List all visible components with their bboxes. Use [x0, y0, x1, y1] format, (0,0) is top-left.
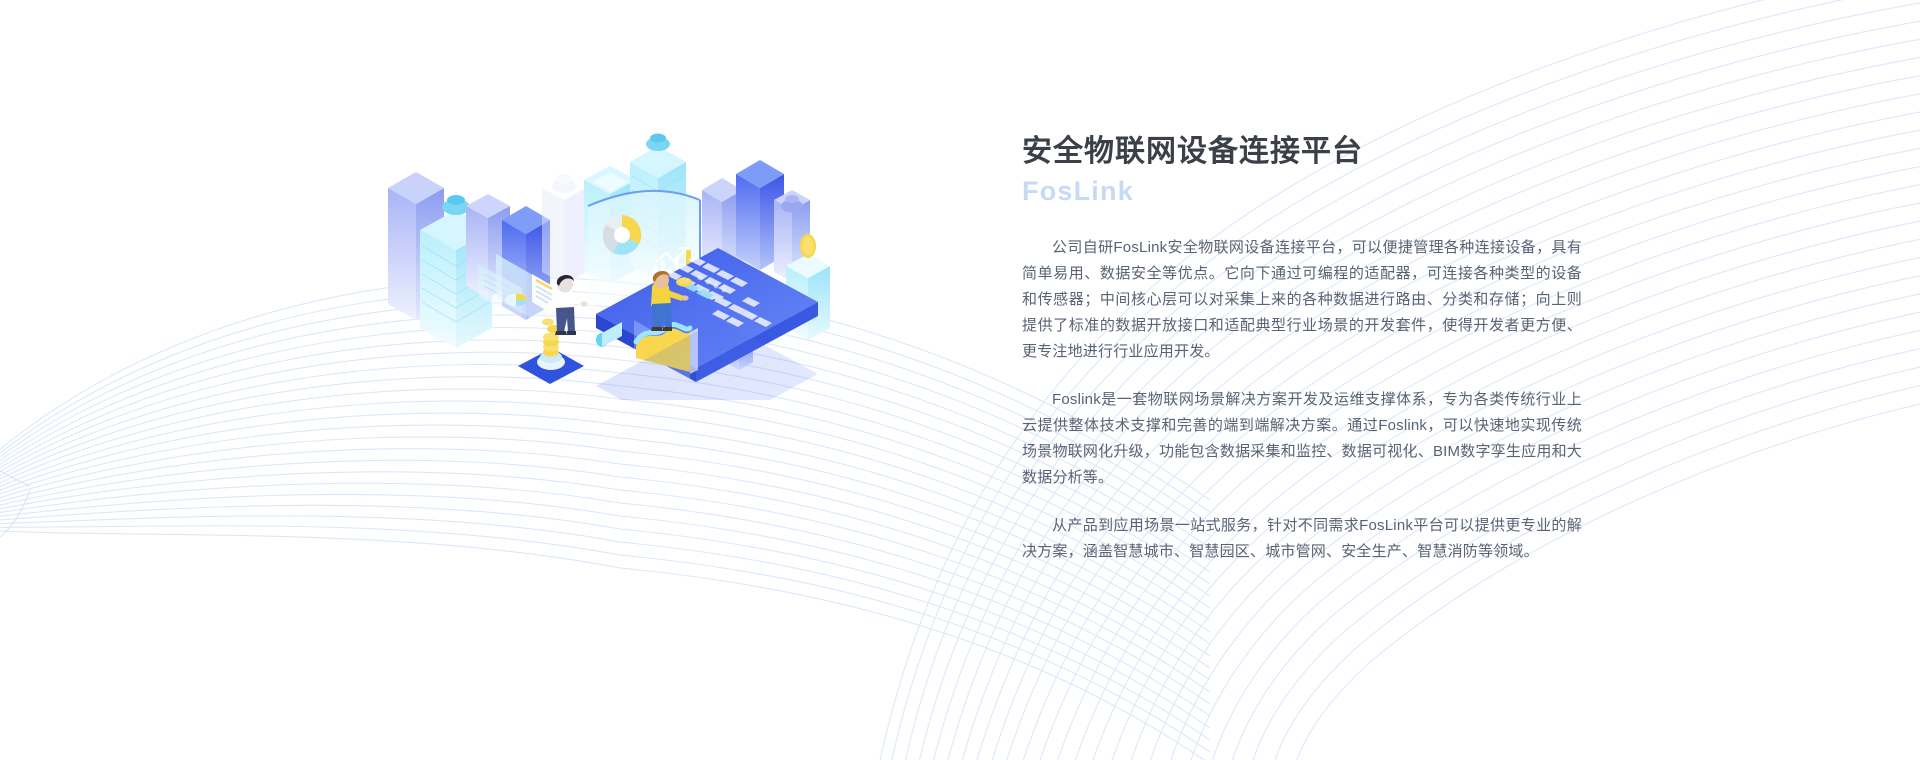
pie-chart-screen	[602, 215, 642, 255]
paragraph-2: Foslink是一套物联网场景解决方案开发及运维支撑体系，专为各类传统行业上云提…	[1022, 387, 1582, 491]
pie-chart-mini	[505, 294, 527, 307]
page-title: 安全物联网设备连接平台	[1022, 132, 1582, 172]
product-name: FosLink	[1022, 174, 1582, 209]
background-wave-decoration	[0, 0, 1920, 760]
paragraph-3: 从产品到应用场景一站式服务，针对不同需求FosLink平台可以提供更专业的解决方…	[1022, 513, 1582, 565]
isometric-smart-city-platform-illustration	[370, 70, 840, 400]
hero-text-column: 安全物联网设备连接平台 FosLink 公司自研FosLink安全物联网设备连接…	[1022, 132, 1582, 565]
paragraph-1: 公司自研FosLink安全物联网设备连接平台，可以便捷管理各种连接设备，具有简单…	[1022, 235, 1582, 365]
worker-figure-white	[555, 275, 588, 335]
body-copy: 公司自研FosLink安全物联网设备连接平台，可以便捷管理各种连接设备，具有简单…	[1022, 235, 1582, 565]
hero-section: 安全物联网设备连接平台 FosLink 公司自研FosLink安全物联网设备连接…	[0, 0, 1920, 760]
